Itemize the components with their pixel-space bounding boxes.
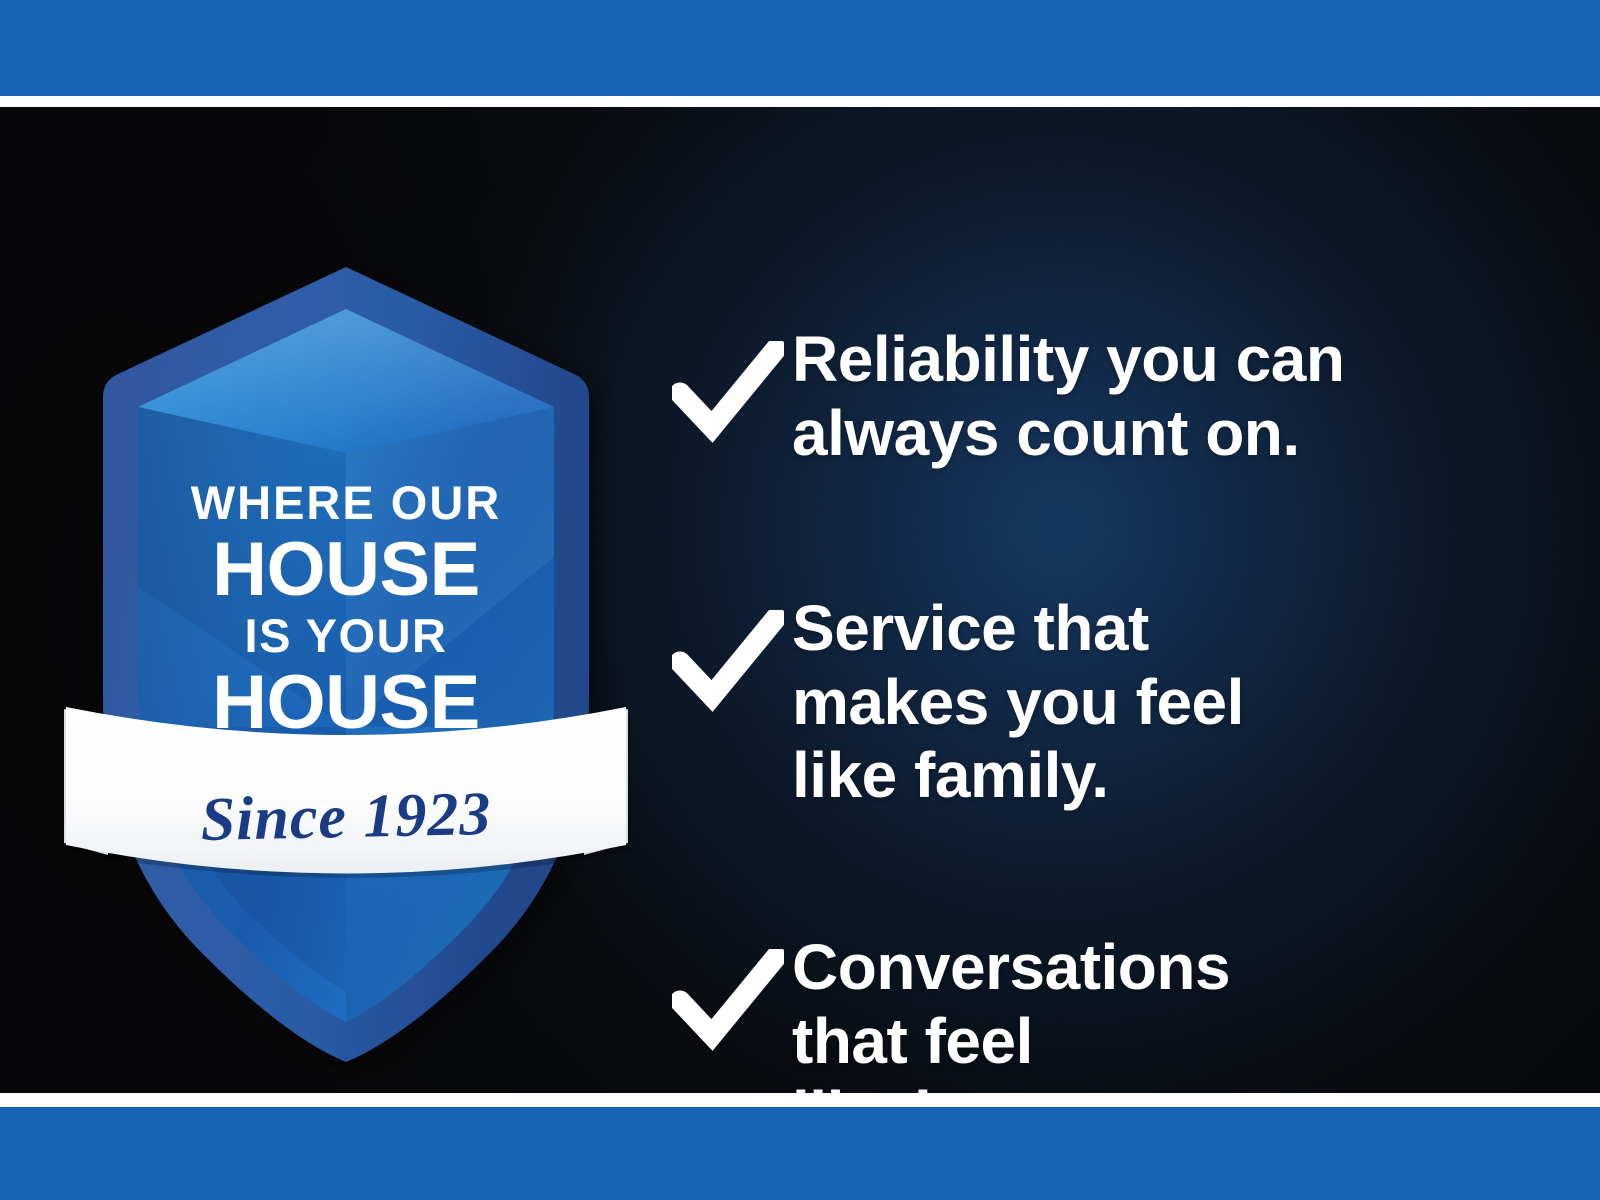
list-item: Conversations that feel like home. [672,931,1552,1093]
list-item-label: Conversations that feel like home. [792,931,1230,1093]
benefits-list: Reliability you can always count on. Ser… [672,307,1552,1093]
list-item: Service that makes you feel like family. [672,592,1552,813]
top-accent-bar [0,0,1600,96]
list-item-label: Reliability you can always count on. [792,323,1344,470]
check-icon [672,931,792,1053]
bottom-accent-bar [0,1107,1600,1200]
promo-graphic: Where our House is your House Since 1923… [0,0,1600,1200]
list-item: Reliability you can always count on. [672,323,1552,470]
main-stage: Where our House is your House Since 1923… [0,107,1600,1093]
check-icon [672,323,792,445]
list-item-label: Service that makes you feel like family. [792,592,1244,813]
bottom-divider-stripe [0,1093,1600,1107]
shield-emblem: Where our House is your House Since 1923 [46,257,646,1077]
top-divider-stripe [0,96,1600,107]
check-icon [672,592,792,714]
